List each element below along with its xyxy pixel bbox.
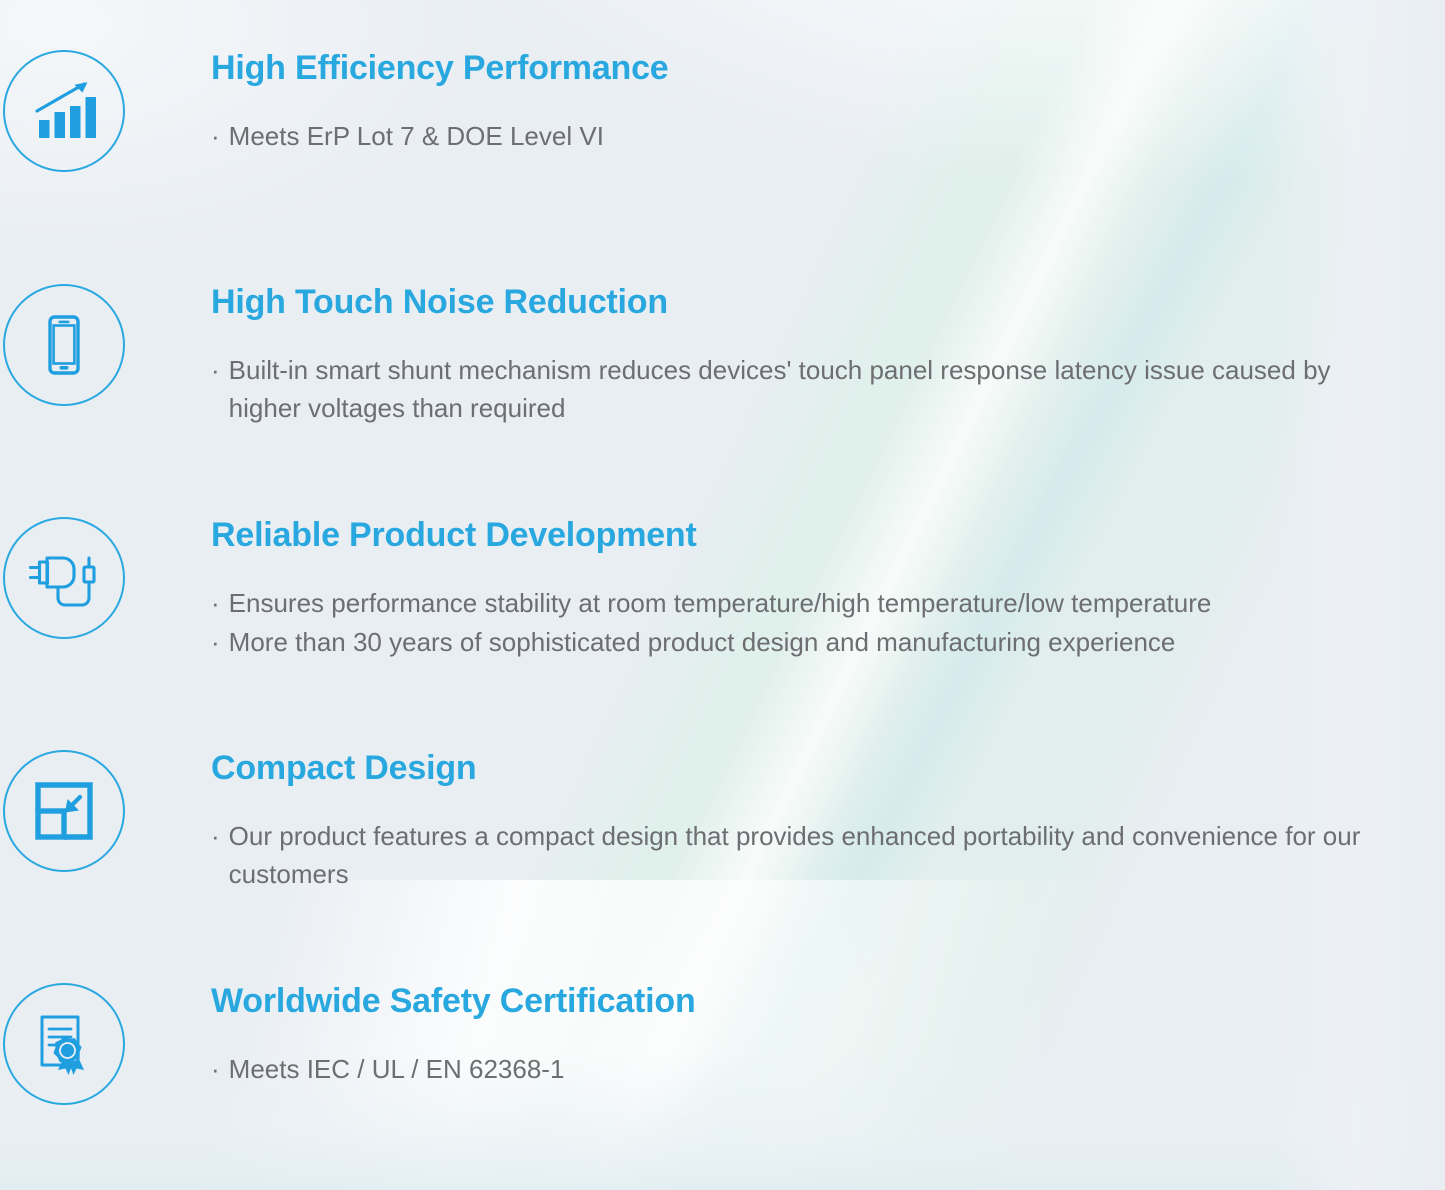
bullet-marker-icon: ·	[211, 818, 229, 856]
bullet-marker-icon: ·	[211, 585, 229, 623]
feature-bullet-line: · Meets IEC / UL / EN 62368-1	[211, 1051, 1367, 1089]
feature-bullets: · Built-in smart shunt mechanism reduces…	[211, 352, 1367, 428]
feature-bullet-line: · Our product features a compact design …	[211, 818, 1367, 894]
feature-bullet-text: Meets ErP Lot 7 & DOE Level VI	[229, 118, 1367, 156]
feature-divider	[211, 802, 1367, 805]
feature-divider	[211, 336, 1367, 339]
feature-item-compact-design: Compact Design · Our product features a …	[0, 748, 1445, 894]
feature-text-block: Worldwide Safety Certification · Meets I…	[128, 981, 1445, 1089]
feature-title: High Efficiency Performance	[211, 48, 1367, 88]
feature-bullet-line: · Built-in smart shunt mechanism reduces…	[211, 352, 1367, 428]
feature-bullets: · Our product features a compact design …	[211, 818, 1367, 894]
bullet-marker-icon: ·	[211, 118, 229, 156]
feature-item-worldwide-safety-certification: Worldwide Safety Certification · Meets I…	[0, 981, 1445, 1105]
feature-title: Worldwide Safety Certification	[211, 981, 1367, 1021]
feature-divider	[211, 102, 1367, 105]
feature-icon-slot	[0, 981, 128, 1105]
feature-icon-slot	[0, 48, 128, 172]
feature-text-block: High Touch Noise Reduction · Built-in sm…	[128, 282, 1445, 428]
feature-title: Compact Design	[211, 748, 1367, 788]
bullet-marker-icon: ·	[211, 624, 229, 662]
feature-icon-slot	[0, 282, 128, 406]
feature-bullet-text: Ensures performance stability at room te…	[229, 585, 1367, 623]
feature-text-block: Reliable Product Development · Ensures p…	[128, 515, 1445, 662]
bar-chart-growth-icon	[3, 50, 125, 172]
power-adapter-icon	[3, 517, 125, 639]
feature-highlights-page: High Efficiency Performance · Meets ErP …	[0, 0, 1445, 1190]
feature-bullet-text: Meets IEC / UL / EN 62368-1	[229, 1051, 1367, 1089]
feature-item-high-touch-noise-reduction: High Touch Noise Reduction · Built-in sm…	[0, 282, 1445, 428]
feature-bullet-line: · Meets ErP Lot 7 & DOE Level VI	[211, 118, 1367, 156]
bullet-marker-icon: ·	[211, 1051, 229, 1089]
feature-bullet-line: · Ensures performance stability at room …	[211, 585, 1367, 623]
feature-bullets: · Meets ErP Lot 7 & DOE Level VI	[211, 118, 1367, 156]
feature-divider	[211, 569, 1367, 572]
feature-bullet-text: Built-in smart shunt mechanism reduces d…	[229, 352, 1367, 428]
compact-resize-icon	[3, 750, 125, 872]
feature-text-block: High Efficiency Performance · Meets ErP …	[128, 48, 1445, 156]
smartphone-icon	[3, 284, 125, 406]
feature-divider	[211, 1035, 1367, 1038]
feature-bullet-text: More than 30 years of sophisticated prod…	[229, 624, 1367, 662]
feature-bullets: · Ensures performance stability at room …	[211, 585, 1367, 662]
feature-title: High Touch Noise Reduction	[211, 282, 1367, 322]
feature-item-reliable-product-development: Reliable Product Development · Ensures p…	[0, 515, 1445, 662]
certificate-seal-icon	[3, 983, 125, 1105]
feature-bullet-line: · More than 30 years of sophisticated pr…	[211, 624, 1367, 662]
feature-title: Reliable Product Development	[211, 515, 1367, 555]
feature-icon-slot	[0, 515, 128, 639]
feature-item-high-efficiency-performance: High Efficiency Performance · Meets ErP …	[0, 48, 1445, 172]
feature-bullets: · Meets IEC / UL / EN 62368-1	[211, 1051, 1367, 1089]
bullet-marker-icon: ·	[211, 352, 229, 390]
feature-icon-slot	[0, 748, 128, 872]
feature-text-block: Compact Design · Our product features a …	[128, 748, 1445, 894]
feature-bullet-text: Our product features a compact design th…	[229, 818, 1367, 894]
